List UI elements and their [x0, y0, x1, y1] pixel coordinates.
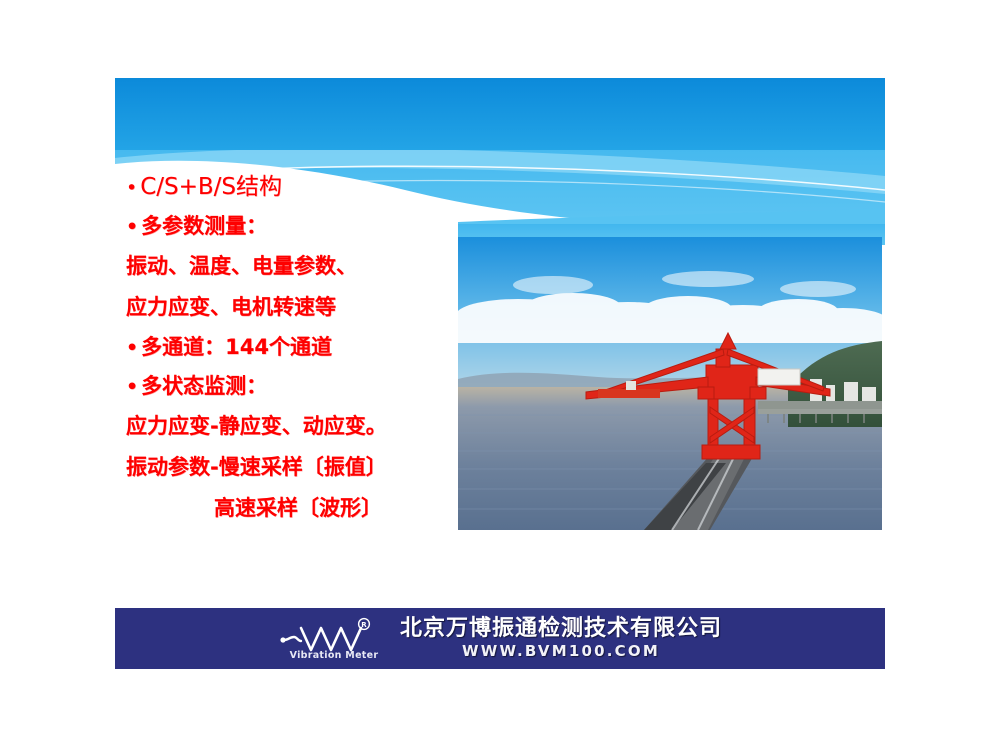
- bullet-item-2: 多参数测量：: [126, 207, 466, 246]
- bullet-item-8: 振动参数-慢速采样〔振值〕: [126, 447, 466, 488]
- bullet-item-5: 多通道：144个通道: [126, 328, 466, 367]
- company-website[interactable]: WWW.BVM100.COM: [462, 644, 660, 659]
- crane-photo: [458, 237, 882, 530]
- bullet-item-4: 应力应变、电机转速等: [126, 287, 466, 328]
- svg-text:R: R: [361, 621, 367, 629]
- logo-caption: Vibration Meter: [284, 650, 384, 661]
- bullet-item-6: 多状态监测：: [126, 367, 466, 406]
- vibration-meter-logo: R Vibration Meter: [278, 616, 386, 662]
- bullet-item-3: 振动、温度、电量参数、: [126, 246, 466, 287]
- bullet-list: C/S+B/S结构 多参数测量： 振动、温度、电量参数、 应力应变、电机转速等 …: [126, 168, 466, 529]
- bullet-item-7: 应力应变-静应变、动应变。: [126, 406, 466, 447]
- crane-photo-illustration: [458, 237, 882, 530]
- company-name: 北京万博振通检测技术有限公司: [400, 618, 722, 640]
- bullet-item-1: C/S+B/S结构: [126, 168, 466, 207]
- slide-canvas: 码头卸船机安全在线监测系统 C/S+B/S结构 多参数测量： 振动、温度、电量: [0, 0, 1000, 750]
- bullet-item-9: 高速采样〔波形〕: [126, 488, 466, 529]
- footer-bar: R Vibration Meter 北京万博振通检测技术有限公司 WWW.BVM…: [115, 608, 885, 669]
